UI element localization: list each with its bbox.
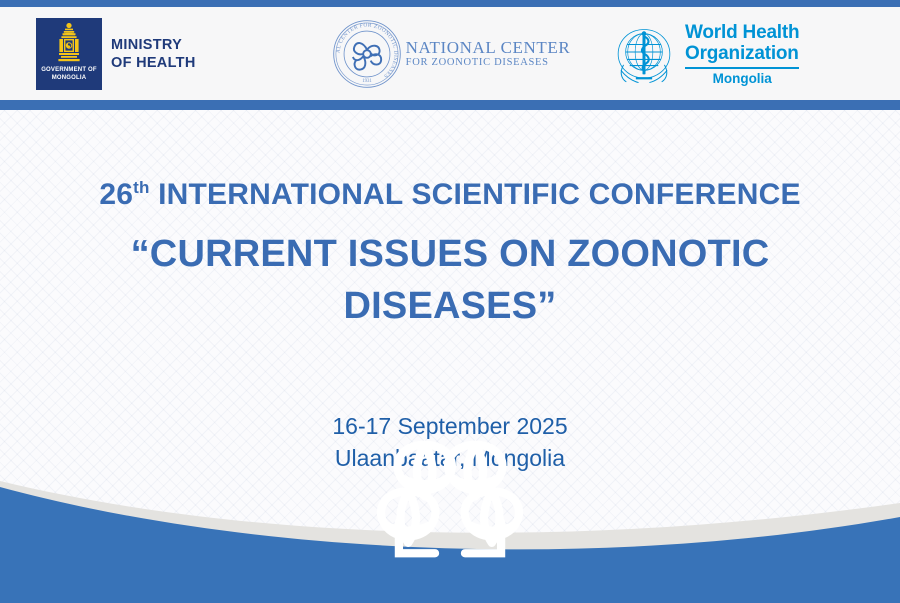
conference-theme: “CURRENT ISSUES ON ZOONOTIC DISEASES” <box>0 228 900 332</box>
theme-line2: DISEASES” <box>0 280 900 332</box>
moh-label-line2: OF HEALTH <box>111 54 196 72</box>
ministry-of-health-label: MINISTRY OF HEALTH <box>111 36 196 72</box>
conference-heading-text: INTERNATIONAL SCIENTIFIC CONFERENCE <box>158 178 801 211</box>
footer-wave-decoration <box>0 443 900 603</box>
logo-header: GOVERNMENT OF MONGOLIA MINISTRY OF HEALT… <box>0 7 900 100</box>
conference-title-slide: GOVERNMENT OF MONGOLIA MINISTRY OF HEALT… <box>0 0 900 603</box>
nczd-seal-year: 1931 <box>362 79 372 84</box>
conference-heading: 26th INTERNATIONAL SCIENTIFIC CONFERENCE <box>0 178 900 212</box>
moh-label-line1: MINISTRY <box>111 36 196 54</box>
who-label-line2: Organization <box>685 43 799 64</box>
header-divider-bar <box>0 100 900 110</box>
conference-ordinal-suffix: th <box>133 178 149 197</box>
soyombo-emblem: GOVERNMENT OF MONGOLIA <box>36 18 102 90</box>
moh-emblem-caption-line2: MONGOLIA <box>52 74 87 82</box>
theme-line1: “CURRENT ISSUES ON ZOONOTIC <box>0 228 900 280</box>
nczd-label-line2: FOR ZOONOTIC DISEASES <box>406 58 571 69</box>
biohazard-seal-icon: NATIONAL CENTER FOR ZOONOTIC DISEASES 19… <box>330 17 404 91</box>
ministry-of-health-logo: GOVERNMENT OF MONGOLIA MINISTRY OF HEALT… <box>0 7 300 100</box>
mongolian-knot-ornament-right <box>0 419 884 579</box>
national-center-label: NATIONAL CENTER FOR ZOONOTIC DISEASES <box>406 39 571 69</box>
soyombo-icon <box>52 22 86 66</box>
who-logo: World Health Organization Mongolia <box>600 7 900 100</box>
conference-number: 26 <box>99 178 133 211</box>
who-rule-divider <box>685 67 799 69</box>
national-center-logo: NATIONAL CENTER FOR ZOONOTIC DISEASES 19… <box>300 7 600 100</box>
who-label: World Health Organization Mongolia <box>685 22 799 86</box>
top-accent-bar <box>0 0 900 7</box>
nczd-label-line1: NATIONAL CENTER <box>406 39 571 56</box>
who-label-line1: World Health <box>685 22 799 43</box>
moh-emblem-caption-line1: GOVERNMENT OF <box>41 66 97 74</box>
who-country-label: Mongolia <box>685 71 799 86</box>
who-emblem-icon <box>610 20 678 88</box>
